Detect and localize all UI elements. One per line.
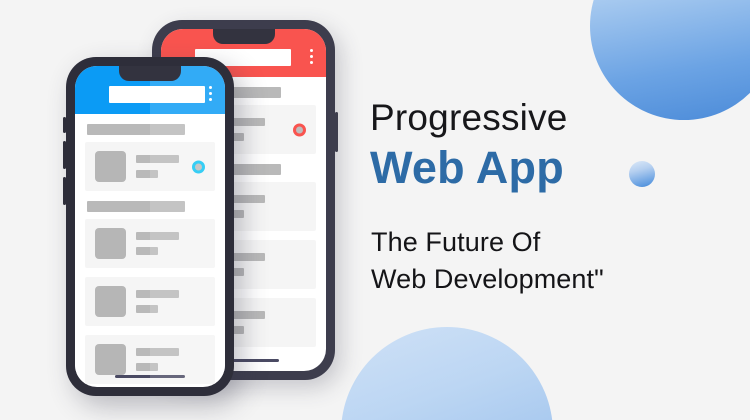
- item-selected-radio-icon[interactable]: [192, 160, 205, 173]
- item-thumbnail: [95, 228, 126, 259]
- kebab-dot: [209, 92, 212, 95]
- phone-notch: [119, 66, 181, 81]
- subheadline: The Future Of Web Development": [371, 224, 604, 298]
- item-title-placeholder: [136, 348, 179, 356]
- item-thumbnail: [95, 286, 126, 317]
- item-text-lines: [136, 232, 179, 255]
- phone-front-screen: [75, 66, 225, 387]
- phone-side-button: [63, 117, 66, 133]
- content-list-front: [75, 124, 225, 384]
- kebab-dot: [209, 86, 212, 89]
- phone-volume-down-button: [63, 177, 66, 205]
- search-input-front[interactable]: [109, 86, 205, 103]
- kebab-dot: [209, 98, 212, 101]
- kebab-dot: [310, 55, 313, 58]
- item-text-lines: [136, 290, 179, 313]
- decorative-circle-bottom-center: [341, 327, 553, 420]
- item-text-lines: [136, 348, 179, 371]
- section-header: [87, 124, 185, 135]
- kebab-dot: [310, 61, 313, 64]
- item-subtitle-placeholder: [136, 170, 158, 178]
- item-thumbnail: [95, 344, 126, 375]
- accent-dot-icon: [629, 161, 655, 187]
- promo-banner: Progressive Web App The Future Of Web De…: [0, 0, 750, 420]
- headline-primary: Progressive: [370, 96, 720, 140]
- kebab-menu-icon[interactable]: [310, 49, 313, 64]
- subheadline-line-2: Web Development": [371, 261, 604, 298]
- item-title-placeholder: [136, 290, 179, 298]
- phone-mockup-front: [66, 57, 234, 396]
- headline-block: Progressive Web App: [370, 96, 720, 194]
- kebab-dot: [310, 49, 313, 52]
- subheadline-line-1: The Future Of: [371, 224, 604, 261]
- item-subtitle-placeholder: [136, 363, 158, 371]
- item-thumbnail: [95, 151, 126, 182]
- phone-volume-up-button: [63, 141, 66, 169]
- phone-notch: [213, 29, 275, 44]
- list-item[interactable]: [85, 219, 215, 268]
- item-subtitle-placeholder: [136, 305, 158, 313]
- list-item[interactable]: [85, 277, 215, 326]
- item-text-lines: [136, 155, 179, 178]
- item-subtitle-placeholder: [136, 247, 158, 255]
- home-indicator: [115, 375, 185, 378]
- item-title-placeholder: [136, 232, 179, 240]
- headline-accent: Web App: [370, 142, 720, 194]
- phone-side-button: [335, 112, 338, 152]
- list-item[interactable]: [85, 142, 215, 191]
- kebab-menu-icon[interactable]: [209, 86, 212, 101]
- item-selected-radio-icon[interactable]: [293, 123, 306, 136]
- section-header: [87, 201, 185, 212]
- item-title-placeholder: [136, 155, 179, 163]
